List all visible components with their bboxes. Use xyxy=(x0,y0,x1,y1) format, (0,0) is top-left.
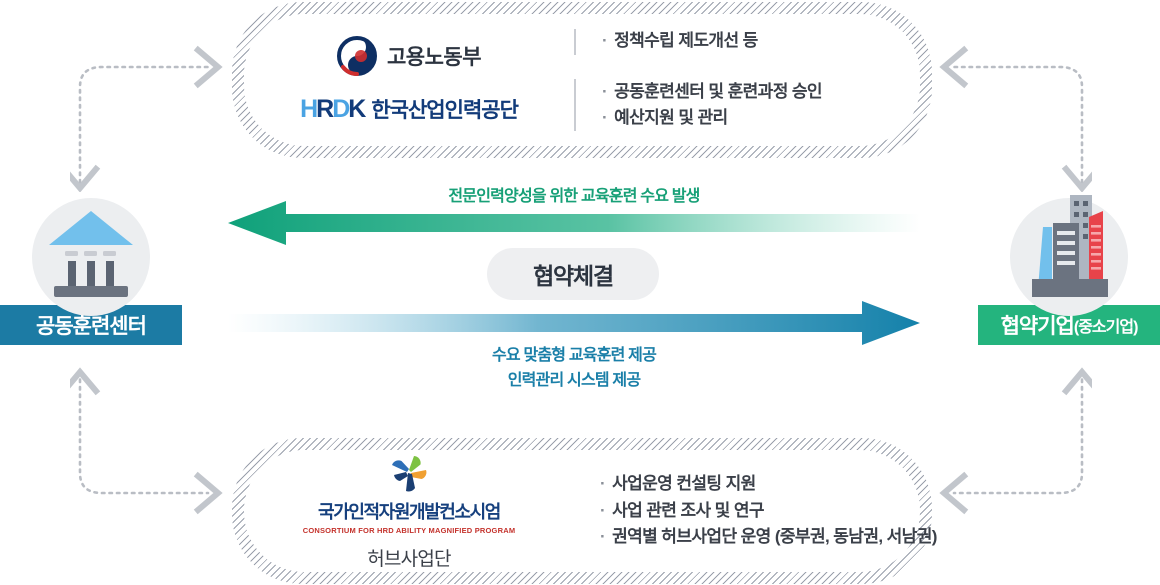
partner-company-label-sub: (중소기업) xyxy=(1074,313,1138,337)
hrdk-mark-d: D xyxy=(332,95,348,123)
bullet-text: 권역별 허브사업단 운영 (중부권, 동남권, 서남권) xyxy=(612,527,937,546)
dotted-path-bottom-right-icon xyxy=(920,366,1092,518)
dotted-path-top-right-icon xyxy=(920,42,1092,192)
consortium-korean-name: 국가인적자원개발컨소시엄 xyxy=(318,498,500,524)
connector-top-right xyxy=(920,42,1092,192)
top-box-logos: 고용노동부 HRDK 한국산업인력공단 xyxy=(244,36,574,124)
bullet-marker: · xyxy=(600,474,605,493)
pinwheel-icon xyxy=(381,451,437,495)
top-bullets-group-1: ·정책수립 제도개선 등 xyxy=(576,28,758,54)
diagram-canvas: 고용노동부 HRDK 한국산업인력공단 ·정책수립 제도개선 등 xyxy=(0,0,1160,585)
moel-logo: 고용노동부 xyxy=(337,36,481,76)
bullet-marker: · xyxy=(600,501,605,520)
hrdk-mark-r: R xyxy=(316,95,332,123)
consortium-logo: 국가인적자원개발컨소시엄 CONSORTIUM FOR HRD ABILITY … xyxy=(244,451,574,571)
classical-building-icon xyxy=(32,193,150,305)
bullet-marker: · xyxy=(602,31,607,50)
connector-top-left xyxy=(70,42,240,192)
bullet-text: 예산지원 및 관리 xyxy=(614,108,728,127)
hrdk-logo-text: 한국산업인력공단 xyxy=(371,94,518,124)
arrow-down-caption-line2: 인력관리 시스템 제공 xyxy=(228,369,920,394)
bottom-bullets: ·사업운영 컨설팅 지원 ·사업 관련 조사 및 연구 ·권역별 허브사업단 운… xyxy=(574,471,937,550)
bullet-marker: · xyxy=(600,527,605,546)
node-training-center[interactable]: 공동훈련센터 xyxy=(0,190,182,345)
hrdk-logo: HRDK 한국산업인력공단 xyxy=(300,94,518,124)
green-left-arrow-icon xyxy=(228,200,920,246)
city-buildings-icon xyxy=(1010,193,1128,305)
arrow-demand-to-center xyxy=(228,200,920,246)
top-bullets-group-2: ·공동훈련센터 및 훈련과정 승인 ·예산지원 및 관리 xyxy=(576,79,822,132)
bullet-item: ·공동훈련센터 및 훈련과정 승인 xyxy=(602,79,822,105)
arrow-down-caption-line1: 수요 맞춤형 교육훈련 제공 xyxy=(228,344,920,369)
connector-bottom-right xyxy=(920,366,1092,518)
connector-bottom-left xyxy=(70,366,240,518)
consortium-english-name: CONSORTIUM FOR HRD ABILITY MAGNIFIED PRO… xyxy=(303,526,516,535)
dotted-path-bottom-left-icon xyxy=(70,366,240,518)
bullet-marker: · xyxy=(602,82,607,101)
bullet-text: 사업운영 컨설팅 지원 xyxy=(612,474,756,493)
agreement-pill-text: 협약체결 xyxy=(533,257,613,291)
bottom-hub-box: 국가인적자원개발컨소시엄 CONSORTIUM FOR HRD ABILITY … xyxy=(232,438,932,584)
node-partner-company[interactable]: 협약기업(중소기업) xyxy=(978,190,1160,345)
bullet-item: ·사업 관련 조사 및 연구 xyxy=(600,498,937,524)
bullet-item: ·사업운영 컨설팅 지원 xyxy=(600,471,937,497)
hrdk-mark-k: K xyxy=(348,95,364,123)
bullet-text: 정책수립 제도개선 등 xyxy=(614,31,758,50)
arrow-down-caption: 수요 맞춤형 교육훈련 제공 인력관리 시스템 제공 xyxy=(228,344,920,394)
bullet-item: ·예산지원 및 관리 xyxy=(602,105,822,131)
hrdk-icon: HRDK xyxy=(300,95,364,124)
consortium-subtitle: 허브사업단 xyxy=(367,544,450,571)
agreement-pill-badge: 협약체결 xyxy=(487,248,659,300)
partner-company-icon-area xyxy=(978,190,1160,305)
top-authority-box: 고용노동부 HRDK 한국산업인력공단 ·정책수립 제도개선 등 xyxy=(232,2,932,158)
bullet-item: ·권역별 허브사업단 운영 (중부권, 동남권, 서남권) xyxy=(600,524,937,550)
bullet-marker: · xyxy=(602,108,607,127)
moel-logo-text: 고용노동부 xyxy=(387,41,481,71)
training-center-icon-area xyxy=(0,190,182,305)
arrow-center-to-company xyxy=(228,300,920,346)
taegeuk-icon xyxy=(337,36,377,76)
bullet-item: ·정책수립 제도개선 등 xyxy=(602,28,758,54)
dotted-path-top-left-icon xyxy=(70,42,240,192)
hrdk-mark-h: H xyxy=(300,95,316,123)
bullet-text: 공동훈련센터 및 훈련과정 승인 xyxy=(614,82,822,101)
bullet-text: 사업 관련 조사 및 연구 xyxy=(612,501,764,520)
blue-right-arrow-icon xyxy=(228,300,920,346)
